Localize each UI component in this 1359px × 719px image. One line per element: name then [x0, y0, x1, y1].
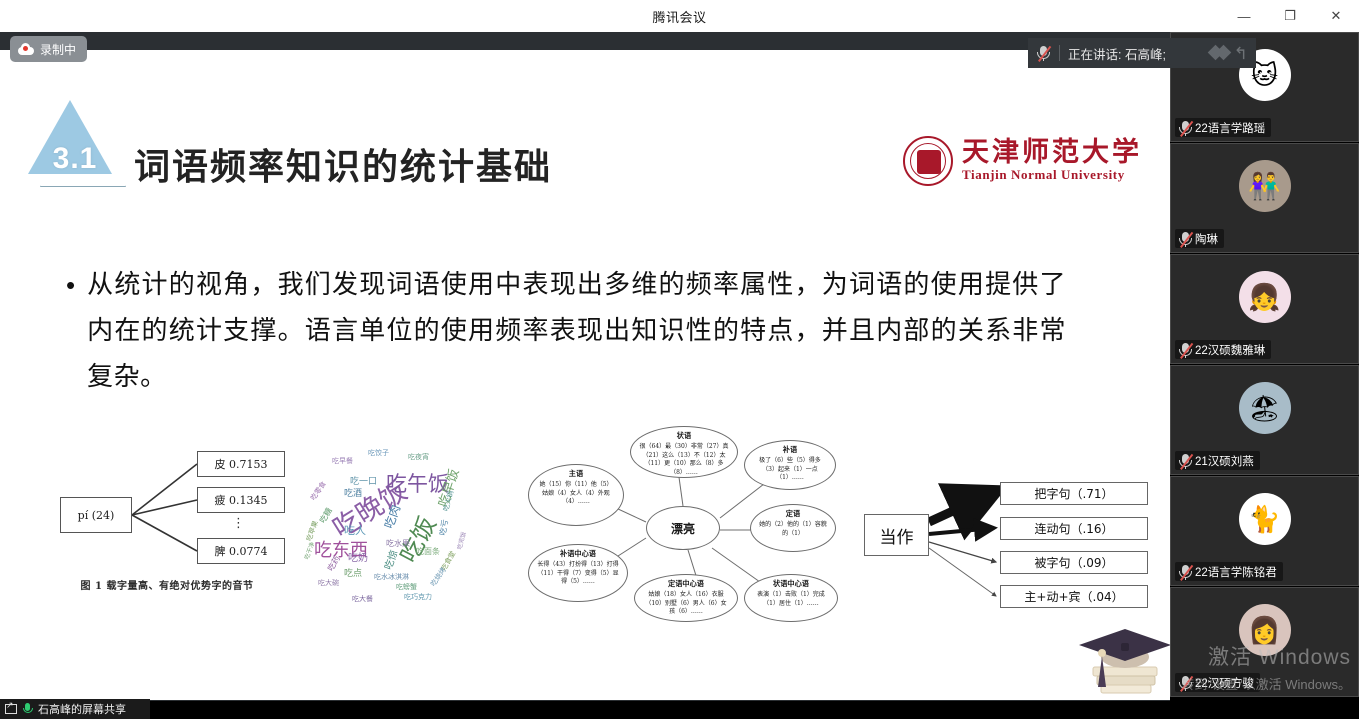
minimize-button[interactable]: —: [1221, 0, 1267, 32]
university-logo: 天津师范大学 Tianjin Normal University: [903, 136, 1142, 186]
figure-3-center-node: 漂亮: [646, 506, 720, 550]
title-bar: 腾讯会议 — ❐ ✕: [0, 0, 1359, 32]
banner-divider: [1059, 45, 1060, 61]
mic-muted-icon: [1178, 453, 1191, 468]
graduation-cap-decoration: [1075, 615, 1170, 700]
word-cloud-term: 吃面条: [416, 546, 440, 557]
figure-3-node-body: 表演（1）击败（1）完成（1）居住（1）……: [745, 589, 837, 608]
participant-name: 陶琳: [1195, 231, 1218, 247]
word-cloud-term: 吃饺子: [368, 448, 389, 458]
participant-name-chip: 21汉硕刘燕: [1175, 451, 1260, 470]
mic-muted-icon: [1178, 120, 1191, 135]
screen-share-taskbar-item[interactable]: 石高峰的屏幕共享: [0, 699, 150, 719]
figure-1-leaf: 疲 0.1345: [197, 487, 285, 513]
couple-photo-avatar: 👫: [1239, 160, 1291, 212]
mic-muted-icon: [1178, 231, 1191, 246]
meeting-window: 腾讯会议 — ❐ ✕ 3.1 词语频率知识的统计基础 天津师范大学 Tianji…: [0, 0, 1359, 719]
participant-name: 22汉硕魏雅琳: [1195, 342, 1265, 358]
mic-muted-icon: [1178, 675, 1191, 690]
slide-title: 词语频率知识的统计基础: [134, 138, 552, 190]
participant-tile[interactable]: 👫陶琳: [1170, 143, 1359, 253]
mic-muted-icon: [1036, 45, 1051, 62]
participant-name: 22语言学陈铭君: [1195, 564, 1277, 580]
university-seal-icon: [903, 136, 953, 186]
figure-3-node-body: 她的（2）他的（1）容貌的（1）: [751, 519, 835, 538]
app-title: 腾讯会议: [652, 7, 706, 26]
figure-4-source: 当作: [864, 514, 929, 556]
figure-3-node-head: 定语中心语: [635, 579, 737, 589]
figure-3-node-body: 长得（43）打扮得（13）打得（11）干得（7）变得（5）显得（5）……: [529, 559, 627, 587]
screen-share-label: 石高峰的屏幕共享: [38, 701, 126, 717]
figure-4-target: 把字句（.71）: [1000, 482, 1148, 505]
portrait-photo-avatar: 👩: [1239, 604, 1291, 656]
mic-muted-icon: [1178, 342, 1191, 357]
back-arrow-icon[interactable]: ↰: [1234, 45, 1248, 62]
shared-screen-region[interactable]: 3.1 词语频率知识的统计基础 天津师范大学 Tianjin Normal Un…: [0, 32, 1170, 701]
black-cat-avatar: 🐈: [1239, 493, 1291, 545]
speaking-label: 正在讲话: 石高峰;: [1068, 44, 1166, 63]
cloud-record-icon: [18, 43, 34, 55]
mic-muted-icon: [1178, 564, 1191, 579]
participant-tile[interactable]: 👧22汉硕魏雅琳: [1170, 254, 1359, 364]
figure-4-construction-weights: 当作 把字句（.71） 连动句（.16） 被字句（.09） 主+动+宾（.04）: [858, 472, 1148, 612]
slide-bullet-block: • 从统计的视角，我们发现词语使用中表现出多维的频率属性，为词语的使用提供了内在…: [66, 262, 1066, 400]
shapes-icon[interactable]: [1210, 44, 1232, 62]
figure-3-node: 主语她（15）你（11）他（5）姑娘（4）女人（4）外观（4）……: [528, 464, 624, 526]
participant-name-chip: 22语言学陈铭君: [1175, 562, 1283, 581]
figure-3-node: 定语她的（2）他的（1）容貌的（1）: [750, 504, 836, 552]
bullet-marker: •: [66, 262, 75, 400]
figure-3-node-head: 状语中心语: [745, 579, 837, 589]
figure-3-node: 状语中心语表演（1）击败（1）完成（1）居住（1）……: [744, 574, 838, 622]
banner-icon-group: ↰: [1210, 44, 1248, 62]
figure-3-collocation-network: 漂亮 状语很（64）最（30）非常（27）真（21）这么（13）不（12）太（1…: [512, 422, 852, 622]
figure-1-syllable-tree: pí (24) 皮 0.7153 疲 0.1345 ⋮ 脾 0.0774: [42, 442, 292, 592]
word-cloud-term: 吃奶: [348, 549, 368, 564]
maximize-button[interactable]: ❐: [1267, 0, 1313, 32]
window-controls: — ❐ ✕: [1221, 0, 1359, 32]
figure-3-node: 补语中心语长得（43）打扮得（13）打得（11）干得（7）变得（5）显得（5）……: [528, 544, 628, 602]
word-cloud-term: 吃水果: [386, 538, 410, 549]
word-cloud-term: 吃酒: [344, 486, 362, 499]
participant-name-chip: 陶琳: [1175, 229, 1224, 248]
figure-3-node-body: 她（15）你（11）他（5）姑娘（4）女人（4）外观（4）……: [529, 479, 623, 507]
word-cloud-term: 吃巧克力: [404, 592, 432, 602]
university-name-en: Tianjin Normal University: [962, 167, 1142, 183]
speaking-banner: 正在讲话: 石高峰; ↰: [1028, 38, 1256, 68]
section-number: 3.1: [20, 142, 130, 176]
word-cloud-term: 吃人: [344, 522, 366, 538]
beach-photo-avatar: 🏖: [1239, 382, 1291, 434]
word-cloud-term: 吃烧烤: [428, 566, 448, 589]
word-cloud-term: 吃夜宵: [408, 452, 429, 462]
girl-cartoon-avatar: 👧: [1239, 271, 1291, 323]
figure-4-target: 被字句（.09）: [1000, 551, 1148, 574]
word-cloud-term: 吃零食: [308, 480, 328, 503]
word-cloud-term: 吃早餐: [332, 456, 353, 466]
participant-tile[interactable]: 👩22汉硕方骏: [1170, 587, 1359, 697]
figure-1-leaf: 脾 0.0774: [197, 538, 285, 564]
participant-tile[interactable]: 🏖21汉硕刘燕: [1170, 365, 1359, 475]
word-cloud-term: 吃完饭: [454, 531, 467, 551]
participant-tile[interactable]: 🐈22语言学陈铭君: [1170, 476, 1359, 586]
participant-name: 22语言学路瑶: [1195, 120, 1265, 136]
figure-3-node: 定语中心语姑娘（18）女人（16）衣服（10）别墅（6）男人（6）女孩（6）……: [634, 574, 738, 622]
figure-3-node: 状语很（64）最（30）非常（27）真（21）这么（13）不（12）太（11）更…: [630, 426, 738, 478]
university-name-cn: 天津师范大学: [962, 139, 1142, 167]
participant-name: 21汉硕刘燕: [1195, 453, 1254, 469]
word-cloud-term: 吃大餐: [352, 594, 373, 604]
figure-1-caption: 图 1 载字量高、有绝对优势字的音节: [42, 577, 292, 592]
recording-badge: 录制中: [10, 36, 87, 62]
recording-label: 录制中: [40, 41, 76, 58]
figure-4-target: 连动句（.16）: [1000, 517, 1148, 540]
mic-active-icon[interactable]: [22, 703, 33, 716]
word-cloud-term: 吃大碗: [318, 578, 339, 588]
close-button[interactable]: ✕: [1313, 0, 1359, 32]
screen-share-icon: [5, 704, 17, 714]
section-triangle: 3.1: [20, 90, 130, 185]
participant-name-chip: 22汉硕方骏: [1175, 673, 1260, 692]
figure-4-target: 主+动+宾（.04）: [1000, 585, 1148, 608]
participant-name-chip: 22语言学路瑶: [1175, 118, 1271, 137]
word-cloud-term: 吃螃蟹: [396, 582, 417, 592]
figure-3-node-head: 状语: [631, 431, 737, 441]
figure-1-ellipsis: ⋮: [232, 515, 247, 531]
figure-1-leaf: 皮 0.7153: [197, 451, 285, 477]
figure-3-node-head: 补语: [745, 445, 835, 455]
figure-3-node-body: 极了（6）些（5）得多（3）起来（1）一点（1）……: [745, 455, 835, 483]
slide-body-text: 从统计的视角，我们发现词语使用中表现出多维的频率属性，为词语的使用提供了内在的统…: [87, 262, 1066, 400]
participant-strip[interactable]: 🐱22语言学路瑶👫陶琳👧22汉硕魏雅琳🏖21汉硕刘燕🐈22语言学陈铭君👩22汉硕…: [1170, 32, 1359, 719]
word-cloud-term: 吃水冰淇淋: [374, 572, 409, 582]
word-cloud-term: 吃亏: [437, 519, 451, 537]
word-cloud-term: 吃点: [344, 566, 362, 579]
figure-3-node-head: 定语: [751, 509, 835, 519]
word-cloud-term: 吃惊: [380, 548, 401, 572]
participant-name-chip: 22汉硕魏雅琳: [1175, 340, 1271, 359]
participant-name: 22汉硕方骏: [1195, 675, 1254, 691]
figure-1-root: pí (24): [60, 497, 132, 533]
figure-3-node: 补语极了（6）些（5）得多（3）起来（1）一点（1）……: [744, 440, 836, 490]
figure-3-node-body: 姑娘（18）女人（16）衣服（10）别墅（6）男人（6）女孩（6）……: [635, 589, 737, 617]
word-cloud-figure: 吃晚饭吃午饭吃东西吃饭吃早饭吃肉吃人吃奶吃点吃惊吃面条吃一口吃酒吃水果吃水冰淇淋…: [288, 426, 498, 611]
presentation-slide: 3.1 词语频率知识的统计基础 天津师范大学 Tianjin Normal Un…: [0, 50, 1170, 700]
